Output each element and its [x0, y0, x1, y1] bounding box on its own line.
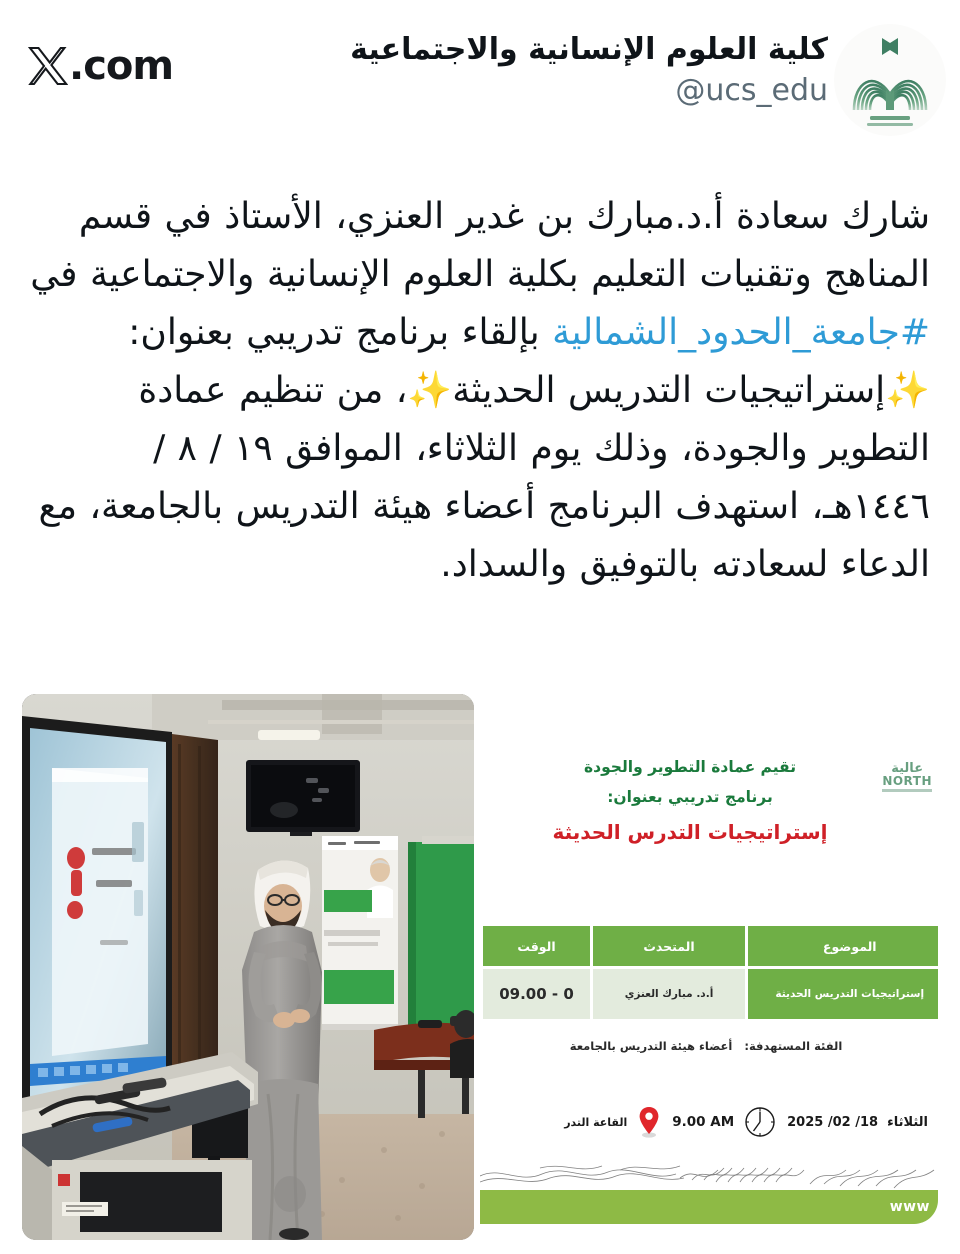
table-header-topic: الموضوع	[747, 926, 939, 968]
poster-audience-line: الفئة المستهدفة: أعضاء هيئة التدريس بالج…	[480, 1039, 932, 1053]
table-cell-topic: إستراتيجيات التدريس الحديثة	[747, 968, 939, 1020]
training-program-poster[interactable]: عالية NORTH تقيم عمادة التطوير والجودة ب…	[480, 694, 938, 1240]
poster-heading-block: تقيم عمادة التطوير والجودة برنامج تدريبي…	[480, 752, 900, 850]
poster-audience-label: الفئة المستهدفة:	[744, 1039, 842, 1053]
poster-location-item: القاعة التدر	[564, 1105, 662, 1139]
table-cell-speaker: أ.د. مبارك العنزي	[592, 968, 747, 1020]
poster-location-label: القاعة التدر	[564, 1116, 627, 1129]
poster-time-label: 9.00 AM	[672, 1114, 734, 1130]
poster-audience-value: أعضاء هيئة التدريس بالجامعة	[570, 1039, 733, 1053]
tweet-segment-1: شارك سعادة أ.د.مبارك بن غدير العنزي، الأ…	[30, 196, 930, 295]
avatar[interactable]	[834, 24, 946, 136]
poster-schedule-table: الموضوع المتحدث الوقت إستراتيجيات التدري…	[480, 926, 938, 1019]
tweet-segment-3: إستراتيجيات التدريس الحديثة	[452, 370, 885, 411]
tweet-hashtag-link[interactable]: #جامعة_الحدود_الشمالية	[552, 312, 930, 353]
poster-day-label: الثلاثاء	[887, 1115, 928, 1130]
table-header-row: الموضوع المتحدث الوقت	[482, 926, 939, 968]
poster-green-bar	[480, 1190, 938, 1224]
sparkle-icon: ✨	[885, 370, 930, 411]
map-pin-icon	[636, 1105, 662, 1139]
lecture-hall-photo[interactable]	[22, 694, 474, 1240]
poster-time-item: 9.00 AM	[672, 1105, 777, 1139]
poster-website-url: www	[890, 1199, 930, 1215]
sparkle-icon-2: ✨	[407, 370, 452, 411]
x-logo-icon	[28, 46, 68, 86]
topographic-lines-decoration	[480, 1162, 938, 1192]
poster-date-item: الثلاثاء 18/ 02/ 2025	[787, 1115, 928, 1130]
northern-border-university-logo-icon	[834, 24, 946, 136]
account-display-name: كلية العلوم الإنسانية والاجتماعية	[268, 30, 828, 70]
poster-title: إستراتيجيات التدرس الحديثة	[480, 814, 900, 850]
tweet-segment-2: بإلقاء برنامج تدريبي بعنوان:	[128, 312, 552, 353]
xcom-logo[interactable]: .com	[28, 40, 173, 92]
clock-icon	[743, 1105, 777, 1139]
poster-footer: www	[480, 1162, 938, 1224]
poster-meta-row: الثلاثاء 18/ 02/ 2025 9.00 AM	[480, 1092, 938, 1152]
poster-program-line: برنامج تدريبي بعنوان:	[480, 782, 900, 812]
account-handle[interactable]: @ucs_edu	[268, 70, 828, 112]
table-header-speaker: المتحدث	[592, 926, 747, 968]
table-header-time: الوقت	[482, 926, 592, 968]
poster-organizer-line: تقيم عمادة التطوير والجودة	[480, 752, 900, 782]
table-cell-time: 09.00 - 0	[482, 968, 592, 1020]
tweet-media-row: عالية NORTH تقيم عمادة التطوير والجودة ب…	[22, 694, 938, 1240]
tweet-body-text: شارك سعادة أ.د.مبارك بن غدير العنزي، الأ…	[30, 188, 930, 594]
xcom-suffix-label: .com	[69, 46, 173, 86]
account-block[interactable]: كلية العلوم الإنسانية والاجتماعية @ucs_e…	[268, 30, 828, 112]
lecture-hall-photo-graphic	[22, 694, 474, 1240]
poster-date-label: 18/ 02/ 2025	[787, 1115, 878, 1130]
table-row: إستراتيجيات التدريس الحديثة أ.د. مبارك ا…	[482, 968, 939, 1020]
post-header: .com كلية العلوم الإنسانية والاجتماعية @…	[0, 0, 960, 160]
